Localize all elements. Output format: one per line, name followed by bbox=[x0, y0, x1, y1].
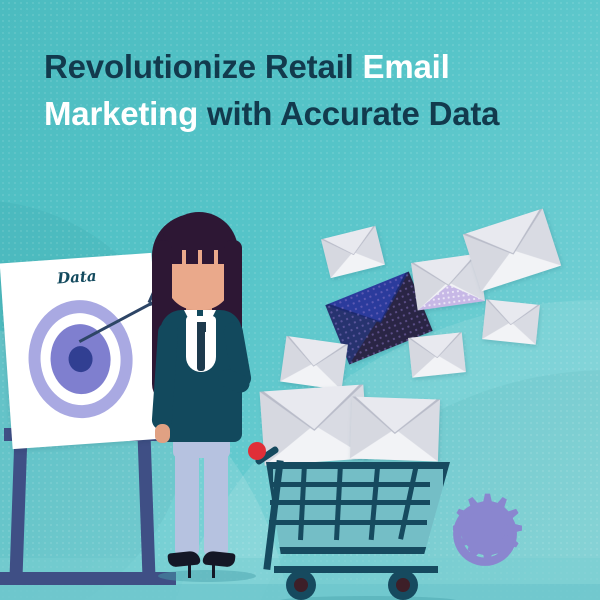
envelope bbox=[280, 336, 348, 390]
illustration-banner: Revolutionize Retail Email Marketing wit… bbox=[0, 0, 600, 600]
cart-handle-knob bbox=[248, 442, 266, 460]
leg-left bbox=[175, 432, 199, 556]
tie bbox=[197, 331, 205, 371]
figure-shadow bbox=[158, 570, 256, 582]
cart-wheel-right bbox=[388, 570, 418, 600]
heel-right bbox=[212, 562, 215, 578]
headline-part-3: with Accurate Data bbox=[198, 95, 499, 132]
easel-foot-bar bbox=[0, 572, 176, 585]
gear-logo bbox=[443, 492, 527, 576]
basket-bar-h1 bbox=[272, 482, 430, 487]
canvas-label: Data bbox=[0, 263, 153, 292]
shopping-cart bbox=[248, 430, 456, 600]
envelope bbox=[482, 299, 540, 344]
page-title: Revolutionize Retail Email Marketing wit… bbox=[44, 44, 564, 138]
headline-part-1: Revolutionize Retail bbox=[44, 48, 363, 85]
cart-basket bbox=[266, 462, 450, 554]
leg-right bbox=[204, 432, 228, 556]
heel-left bbox=[188, 562, 191, 578]
easel-canvas: Data bbox=[0, 253, 164, 449]
collar-left bbox=[184, 310, 197, 336]
envelope bbox=[408, 332, 466, 377]
cart-wheel-left bbox=[286, 570, 316, 600]
hand-left bbox=[155, 424, 170, 443]
